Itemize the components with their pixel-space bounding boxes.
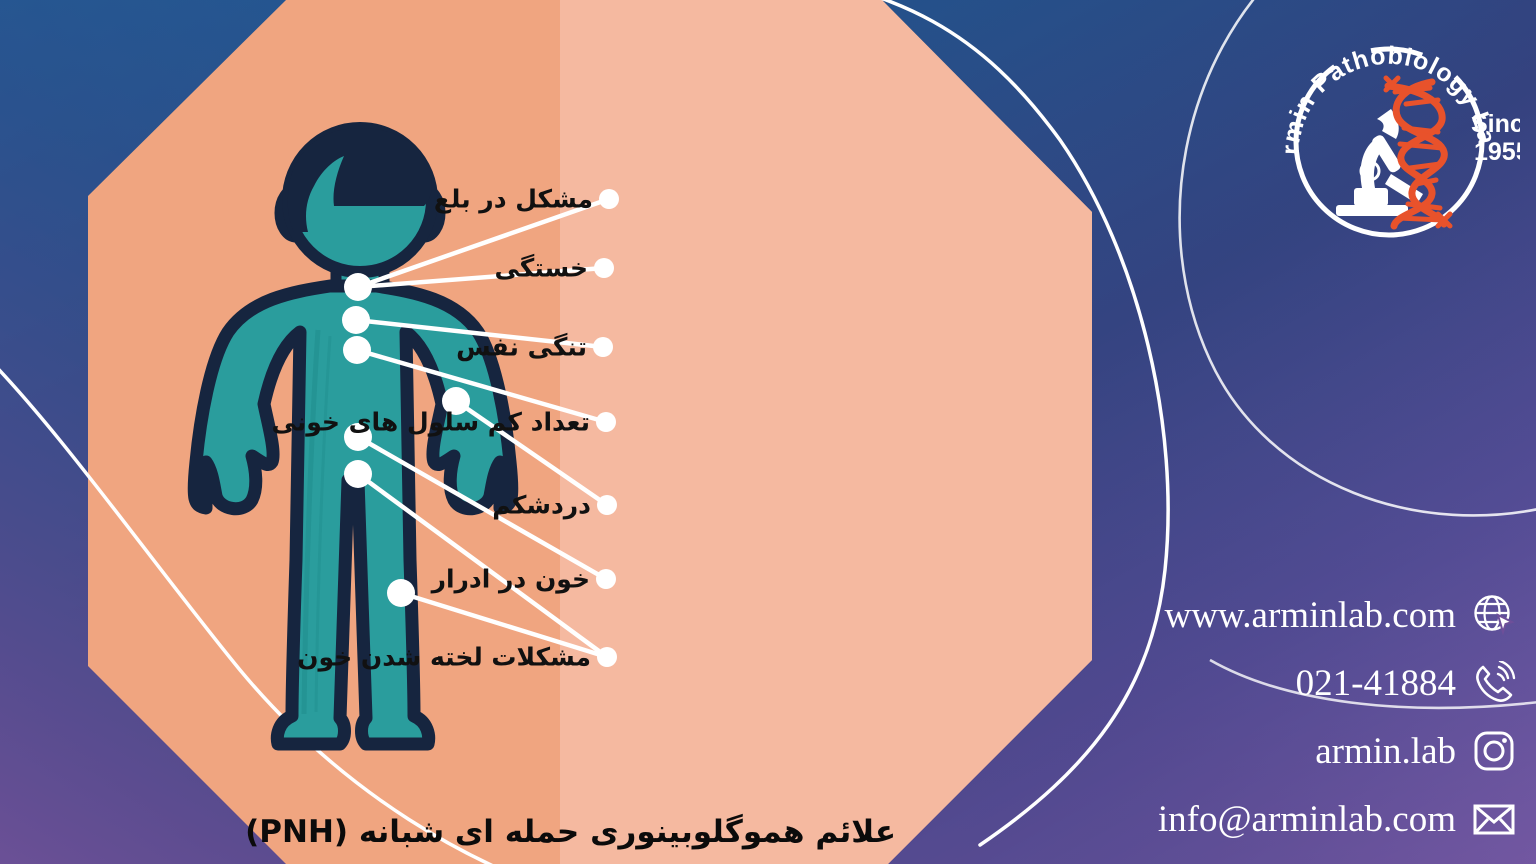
symptom-label-swallowing: مشکل در بلع <box>434 185 593 214</box>
email-text[interactable]: info@arminlab.com <box>1158 801 1456 838</box>
envelope-icon <box>1472 797 1516 841</box>
contact-info-block: www.arminlab.com 021-41884 armin.lab <box>1046 584 1516 850</box>
label-dot-low-blood <box>596 412 616 432</box>
logo-since-year: 1955 <box>1474 138 1520 166</box>
contact-row-email[interactable]: info@arminlab.com <box>1046 788 1516 850</box>
contact-row-website[interactable]: www.arminlab.com <box>1046 584 1516 646</box>
label-dot-abdominal <box>597 495 617 515</box>
symptom-label-clotting: مشکلات لخته شدن خون <box>297 643 591 672</box>
symptom-label-shortness: تنگی نفس <box>456 333 587 362</box>
page-title: علائم هموگلوبینوری حمله ای شبانه (PNH) <box>245 814 896 850</box>
body-marker-clotting <box>344 460 372 488</box>
website-text[interactable]: www.arminlab.com <box>1165 597 1456 634</box>
contact-row-instagram[interactable]: armin.lab <box>1046 720 1516 782</box>
infographic-canvas: مشکل در بلعخستگیتنگی نفستعداد کم سلول ها… <box>0 0 1536 864</box>
contact-row-phone[interactable]: 021-41884 <box>1046 652 1516 714</box>
company-logo: Armin Pathobiology Lab Since 1955 <box>1258 8 1520 270</box>
label-dot-clotting <box>597 647 617 667</box>
symptom-label-hematuria: خون در ادرار <box>432 565 590 594</box>
logo-since-label: Since <box>1471 110 1520 138</box>
instagram-text[interactable]: armin.lab <box>1315 733 1456 770</box>
dna-helix-icon <box>1386 78 1450 226</box>
body-marker-low-blood <box>343 336 371 364</box>
symptom-label-low-blood: تعداد کم سلول های خونی <box>272 408 590 437</box>
label-dot-fatigue <box>594 258 614 278</box>
body-marker-shortness <box>342 306 370 334</box>
phone-text[interactable]: 021-41884 <box>1296 665 1456 702</box>
logo-brand-arc-text: Armin Pathobiology Lab <box>1258 8 1501 155</box>
symptom-label-fatigue: خستگی <box>495 254 589 283</box>
body-marker-thigh <box>387 579 415 607</box>
label-dot-shortness <box>593 337 613 357</box>
globe-cursor-icon <box>1472 593 1516 637</box>
label-dot-swallowing <box>599 189 619 209</box>
label-dot-hematuria <box>596 569 616 589</box>
phone-ring-icon <box>1472 661 1516 705</box>
body-marker-swallowing <box>344 273 372 301</box>
instagram-icon <box>1472 729 1516 773</box>
symptom-label-abdominal: دردشکم <box>492 491 591 520</box>
